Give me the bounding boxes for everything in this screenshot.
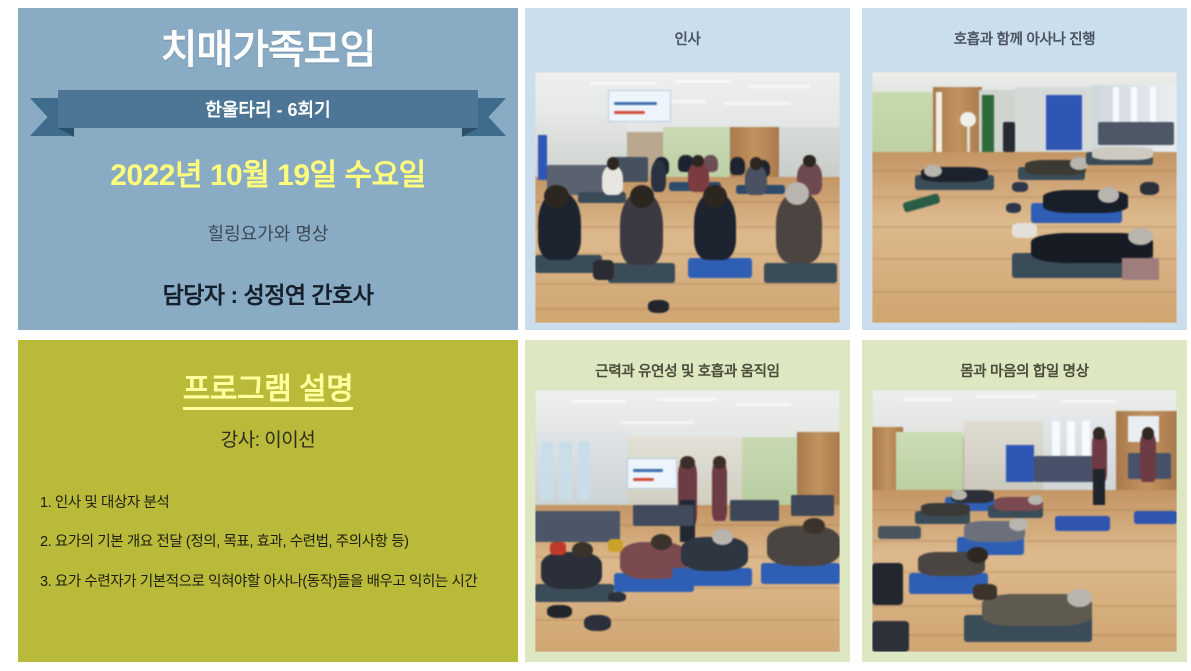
photo-panel-greeting: 인사 [525, 8, 850, 330]
photo-panel-asana: 호흡과 함께 아사나 진행 [862, 8, 1187, 330]
photo-caption: 몸과 마음의 합일 명상 [862, 360, 1187, 381]
photo-image-greeting [535, 72, 840, 323]
list-item: 3. 요가 수련자가 기본적으로 익혀야할 아사나(동작)들을 배우고 익히는 … [40, 574, 506, 591]
photo-panel-meditation: 몸과 마음의 합일 명상 [862, 340, 1187, 662]
ribbon-label: 한울타리 - 6회기 [58, 90, 478, 128]
list-item: 2. 요가의 기본 개요 전달 (정의, 목표, 효과, 수련법, 주의사항 등… [40, 534, 506, 551]
staff-in-charge: 담당자 : 성정연 간호사 [18, 276, 518, 310]
event-date: 2022년 10월 19일 수요일 [18, 150, 518, 194]
photo-caption: 근력과 유연성 및 호흡과 움직임 [525, 360, 850, 381]
photo-caption: 호흡과 함께 아사나 진행 [862, 28, 1187, 49]
program-heading: 프로그램 설명 [18, 364, 518, 408]
list-item: 1. 인사 및 대상자 분석 [40, 495, 506, 512]
event-subtitle: 힐링요가와 명상 [18, 220, 518, 246]
photo-image-asana [872, 72, 1177, 323]
page-title: 치매가족모임 [18, 28, 518, 72]
poster-board: 치매가족모임 한울타리 - 6회기 2022년 10월 19일 수요일 힐링요가… [0, 0, 1191, 671]
program-step-list: 1. 인사 및 대상자 분석 2. 요가의 기본 개요 전달 (정의, 목표, … [40, 495, 506, 613]
ribbon-banner: 한울타리 - 6회기 [30, 88, 506, 140]
photo-panel-strength: 근력과 유연성 및 호흡과 움직임 [525, 340, 850, 662]
photo-image-strength [535, 390, 840, 652]
title-panel: 치매가족모임 한울타리 - 6회기 2022년 10월 19일 수요일 힐링요가… [18, 8, 518, 330]
program-heading-text: 프로그램 설명 [183, 373, 353, 410]
photo-caption: 인사 [525, 28, 850, 49]
program-description-panel: 프로그램 설명 강사: 이이선 1. 인사 및 대상자 분석 2. 요가의 기본… [18, 340, 518, 662]
instructor-name: 강사: 이이선 [18, 425, 518, 452]
photo-image-meditation [872, 390, 1177, 652]
